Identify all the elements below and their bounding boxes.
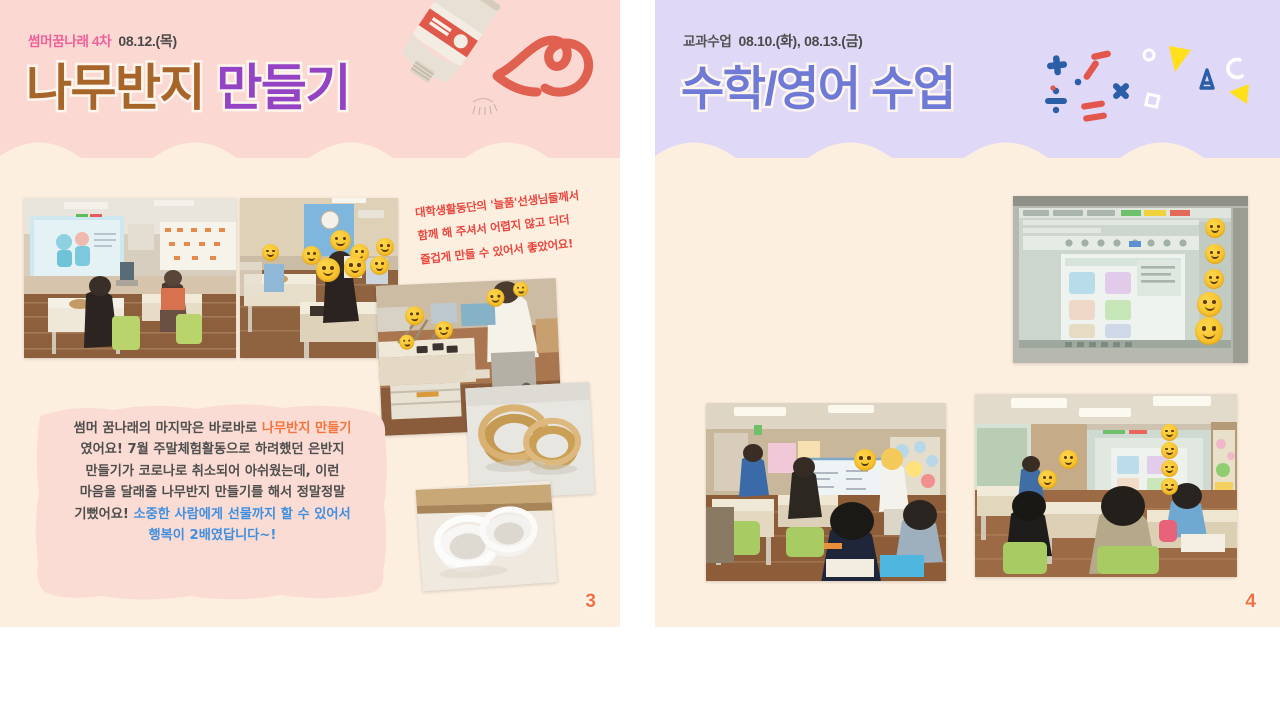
left-note-blob: 썸머 꿈나래의 마지막은 바로바로 나무반지 만들기였어요! 7월 주말체험활동…	[35, 402, 390, 602]
header-tag: 썸머꿈나래 4차	[28, 34, 111, 49]
note-segment: 마음을 달래줄 나무반지 만들기를 해서 정말정말	[80, 485, 346, 500]
emoji-face-icon	[1204, 269, 1224, 289]
english-class-projector-photo	[975, 394, 1237, 577]
note-segment: 기뻤어요!	[74, 507, 133, 522]
emoji-face-icon	[1038, 470, 1057, 489]
white-rings-photo	[416, 480, 558, 591]
red-handwritten-caption: 대학생활동단의 '늘품'선생님들께서 함께 해 주셔서 어렵지 않고 더더 즐겁…	[414, 181, 610, 271]
glue-tube-heart-icon	[389, 0, 604, 128]
page-right-header: 교과수업08.10.(화), 08.13.(금) 수학/영어 수업	[655, 0, 1280, 172]
page-number: 3	[585, 591, 596, 613]
page-title: 나무반지 만들기	[26, 48, 350, 120]
note-segment: 소중한 사람에게 선물까지 할 수 있어서	[134, 507, 351, 522]
emoji-face-icon	[262, 244, 279, 261]
workshop-desks-photo	[240, 198, 398, 358]
math-class-whiteboard-photo	[706, 403, 946, 581]
emoji-face-icon	[1197, 292, 1222, 317]
header-tag: 교과수업	[683, 34, 731, 49]
header-date: 08.12.(목)	[118, 33, 176, 49]
emoji-face-icon	[854, 449, 876, 471]
emoji-face-icon	[330, 230, 351, 251]
note-segment: 나무반지 만들기	[262, 421, 352, 436]
left-note-text: 썸머 꿈나래의 마지막은 바로바로 나무반지 만들기였어요! 7월 주말체험활동…	[45, 418, 380, 546]
page-title-part-2: 만들기	[216, 60, 350, 116]
emoji-face-icon	[1195, 317, 1223, 345]
note-line: 행복이 2배였답니다~!	[45, 525, 380, 546]
note-line: 만들기가 코로나로 취소되어 아쉬웠는데, 이런	[45, 461, 380, 482]
wavy-divider	[655, 142, 1280, 172]
classroom-projector-photo	[24, 198, 236, 358]
note-segment: 만들기가 코로나로 취소되어 아쉬웠는데, 이런	[86, 464, 340, 479]
note-segment: 썸머 꿈나래의 마지막은 바로바로	[74, 421, 262, 436]
emoji-face-icon	[1161, 478, 1178, 495]
emoji-face-icon	[1161, 460, 1178, 477]
emoji-face-icon	[316, 258, 340, 282]
emoji-face-icon	[1161, 442, 1178, 459]
page-title: 수학/영어 수업	[681, 50, 955, 119]
note-line: 기뻤어요! 소중한 사람에게 선물까지 할 수 있어서	[45, 504, 380, 525]
emoji-face-icon	[344, 256, 366, 278]
page-left-header: 썸머꿈나래 4차08.12.(목) 나무반지 만들기	[0, 0, 620, 172]
emoji-face-icon	[1161, 424, 1178, 441]
emoji-face-icon	[1205, 244, 1225, 264]
emoji-face-icon	[1205, 218, 1225, 238]
header-date: 08.10.(화), 08.13.(금)	[738, 33, 862, 49]
page-left: 썸머꿈나래 4차08.12.(목) 나무반지 만들기	[0, 0, 620, 627]
note-segment: 였어요! 7월 주말체험활동으로 하려했던 은반지	[80, 442, 344, 457]
page-number: 4	[1245, 591, 1256, 613]
note-line: 썸머 꿈나래의 마지막은 바로바로 나무반지 만들기	[45, 418, 380, 439]
note-line: 였어요! 7월 주말체험활동으로 하려했던 은반지	[45, 439, 380, 460]
emoji-face-icon	[376, 238, 394, 256]
header-subtitle: 교과수업08.10.(화), 08.13.(금)	[683, 30, 863, 51]
newsletter-spread: 썸머꿈나래 4차08.12.(목) 나무반지 만들기	[0, 0, 1280, 720]
emoji-face-icon	[370, 256, 389, 275]
page-right: 교과수업08.10.(화), 08.13.(금) 수학/영어 수업	[655, 0, 1280, 627]
note-line: 마음을 달래줄 나무반지 만들기를 해서 정말정말	[45, 482, 380, 503]
math-symbols-decoration-icon	[1033, 38, 1258, 138]
online-class-screen-photo	[1013, 196, 1248, 363]
note-segment: 행복이 2배였답니다~!	[149, 528, 277, 543]
emoji-face-icon	[1059, 450, 1078, 469]
wavy-divider	[0, 142, 620, 172]
page-title-part-1: 나무반지	[26, 60, 204, 116]
